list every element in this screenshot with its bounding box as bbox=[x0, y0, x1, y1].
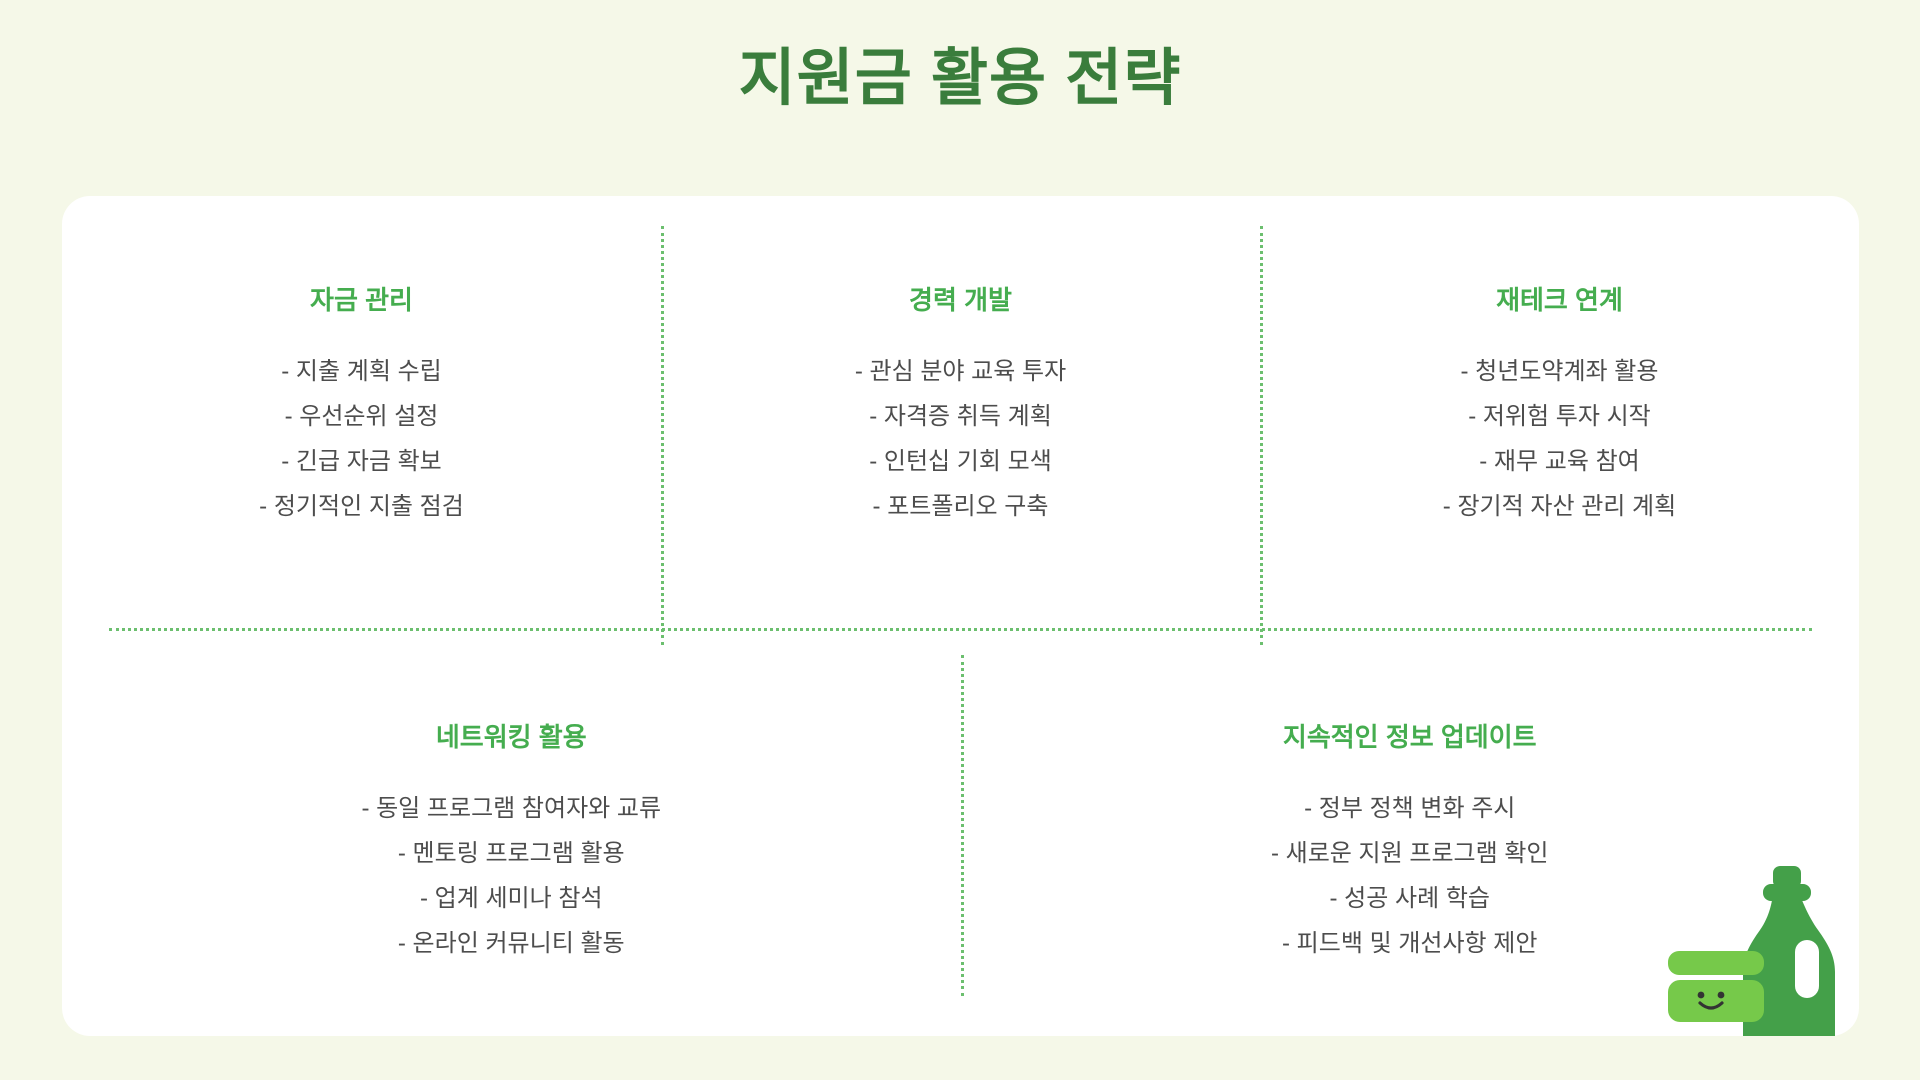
list-item: - 피드백 및 개선사항 제안 bbox=[1271, 921, 1549, 966]
panel-continuous-info-update: 지속적인 정보 업데이트 - 정부 정책 변화 주시 - 새로운 지원 프로그램… bbox=[961, 629, 1860, 1036]
list-item: - 재무 교육 참여 bbox=[1443, 439, 1676, 484]
panel-career-development: 경력 개발 - 관심 분야 교육 투자 - 자격증 취득 계획 - 인턴십 기회… bbox=[661, 196, 1260, 629]
panel-heading: 자금 관리 bbox=[310, 280, 413, 317]
panel-funds-management: 자금 관리 - 지출 계획 수립 - 우선순위 설정 - 긴급 자금 확보 - … bbox=[62, 196, 661, 629]
list-item: - 인턴십 기회 모색 bbox=[855, 439, 1066, 484]
panel-item-list: - 지출 계획 수립 - 우선순위 설정 - 긴급 자금 확보 - 정기적인 지… bbox=[259, 349, 464, 529]
panel-heading: 네트워킹 활용 bbox=[436, 717, 587, 754]
list-item: - 자격증 취득 계획 bbox=[855, 394, 1066, 439]
top-row: 자금 관리 - 지출 계획 수립 - 우선순위 설정 - 긴급 자금 확보 - … bbox=[62, 196, 1859, 629]
list-item: - 저위험 투자 시작 bbox=[1443, 394, 1676, 439]
list-item: - 성공 사례 학습 bbox=[1271, 876, 1549, 921]
panel-heading: 경력 개발 bbox=[909, 280, 1012, 317]
list-item: - 멘토링 프로그램 활용 bbox=[361, 831, 661, 876]
list-item: - 정기적인 지출 점검 bbox=[259, 484, 464, 529]
list-item: - 장기적 자산 관리 계획 bbox=[1443, 484, 1676, 529]
list-item: - 관심 분야 교육 투자 bbox=[855, 349, 1066, 394]
list-item: - 정부 정책 변화 주시 bbox=[1271, 786, 1549, 831]
panel-item-list: - 동일 프로그램 참여자와 교류 - 멘토링 프로그램 활용 - 업계 세미나… bbox=[361, 786, 661, 966]
list-item: - 긴급 자금 확보 bbox=[259, 439, 464, 484]
panel-item-list: - 관심 분야 교육 투자 - 자격증 취득 계획 - 인턴십 기회 모색 - … bbox=[855, 349, 1066, 529]
panel-item-list: - 청년도약계좌 활용 - 저위험 투자 시작 - 재무 교육 참여 - 장기적… bbox=[1443, 349, 1676, 529]
list-item: - 온라인 커뮤니티 활동 bbox=[361, 921, 661, 966]
list-item: - 청년도약계좌 활용 bbox=[1443, 349, 1676, 394]
bottom-row: 네트워킹 활용 - 동일 프로그램 참여자와 교류 - 멘토링 프로그램 활용 … bbox=[62, 629, 1859, 1036]
page-title: 지원금 활용 전략 bbox=[0, 42, 1920, 116]
list-item: - 우선순위 설정 bbox=[259, 394, 464, 439]
list-item: - 포트폴리오 구축 bbox=[855, 484, 1066, 529]
list-item: - 업계 세미나 참석 bbox=[361, 876, 661, 921]
panel-item-list: - 정부 정책 변화 주시 - 새로운 지원 프로그램 확인 - 성공 사례 학… bbox=[1271, 786, 1549, 966]
list-item: - 지출 계획 수립 bbox=[259, 349, 464, 394]
panel-investment-linkage: 재테크 연계 - 청년도약계좌 활용 - 저위험 투자 시작 - 재무 교육 참… bbox=[1260, 196, 1859, 629]
list-item: - 동일 프로그램 참여자와 교류 bbox=[361, 786, 661, 831]
list-item: - 새로운 지원 프로그램 확인 bbox=[1271, 831, 1549, 876]
panel-heading: 재테크 연계 bbox=[1496, 280, 1623, 317]
strategy-card: 자금 관리 - 지출 계획 수립 - 우선순위 설정 - 긴급 자금 확보 - … bbox=[62, 196, 1859, 1036]
panel-networking: 네트워킹 활용 - 동일 프로그램 참여자와 교류 - 멘토링 프로그램 활용 … bbox=[62, 629, 961, 1036]
panel-heading: 지속적인 정보 업데이트 bbox=[1283, 717, 1537, 754]
